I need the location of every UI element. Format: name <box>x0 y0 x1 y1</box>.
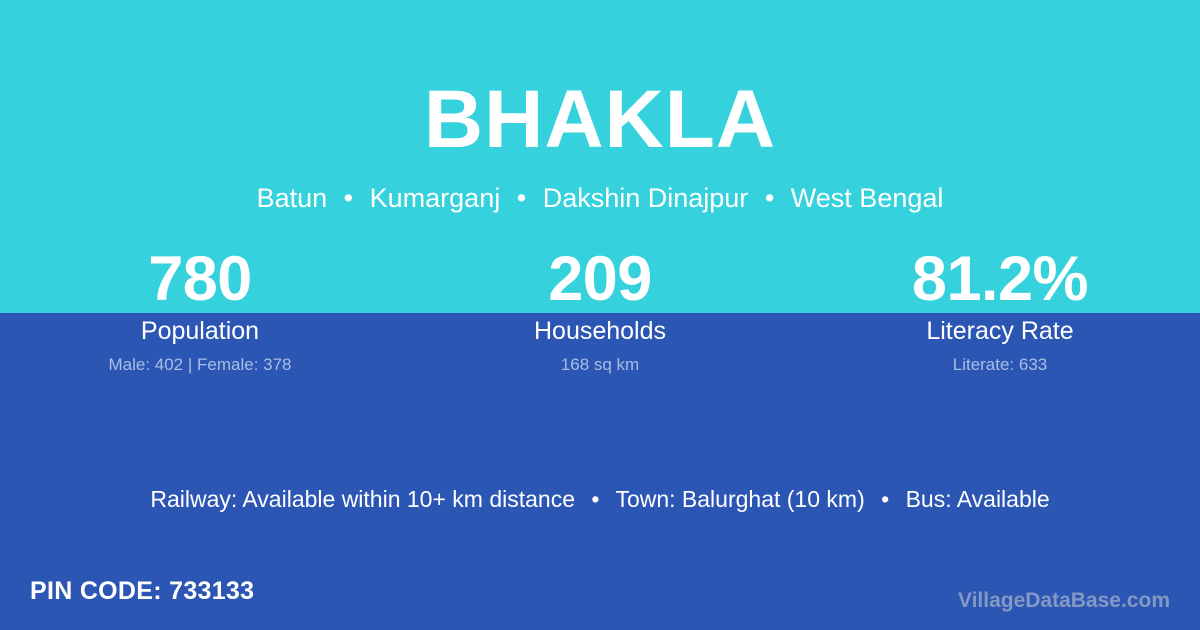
amenity-separator-icon: • <box>581 485 609 515</box>
amenity-town: Town: Balurghat (10 km) <box>615 486 864 512</box>
page-title: BHAKLA <box>0 79 1200 161</box>
stat-value-households: 209 <box>400 248 800 312</box>
amenity-railway: Railway: Available within 10+ km distanc… <box>150 486 575 512</box>
stats-row: 780 Population Male: 402 | Female: 378 2… <box>0 248 1200 388</box>
breadcrumb-item-subdistrict: Kumarganj <box>370 183 501 213</box>
breadcrumb: Batun • Kumarganj • Dakshin Dinajpur • W… <box>0 182 1200 214</box>
stat-card-population: 780 Population Male: 402 | Female: 378 <box>0 248 400 388</box>
stat-value-population: 780 <box>0 248 400 312</box>
site-brand-watermark: VillageDataBase.com <box>958 588 1170 613</box>
amenity-bus: Bus: Available <box>906 486 1050 512</box>
breadcrumb-item-block: Batun <box>257 183 328 213</box>
pin-code-label: PIN CODE: 733133 <box>30 576 254 606</box>
stat-card-households: 209 Households 168 sq km <box>400 248 800 388</box>
stat-sub-literacy-rate: Literate: 633 <box>800 355 1200 375</box>
stat-value-literacy-rate: 81.2% <box>800 248 1200 312</box>
breadcrumb-separator-icon: • <box>335 182 362 214</box>
amenities-line: Railway: Available within 10+ km distanc… <box>0 485 1200 515</box>
amenity-separator-icon: • <box>871 485 899 515</box>
stat-label-population: Population <box>0 316 400 346</box>
stat-sub-households: 168 sq km <box>400 355 800 375</box>
stat-label-literacy-rate: Literacy Rate <box>800 316 1200 346</box>
breadcrumb-item-district: Dakshin Dinajpur <box>543 183 749 213</box>
stat-sub-population: Male: 402 | Female: 378 <box>0 355 400 375</box>
breadcrumb-separator-icon: • <box>756 182 783 214</box>
breadcrumb-separator-icon: • <box>508 182 535 214</box>
stat-card-literacy-rate: 81.2% Literacy Rate Literate: 633 <box>800 248 1200 388</box>
stat-label-households: Households <box>400 316 800 346</box>
breadcrumb-item-state: West Bengal <box>791 183 944 213</box>
